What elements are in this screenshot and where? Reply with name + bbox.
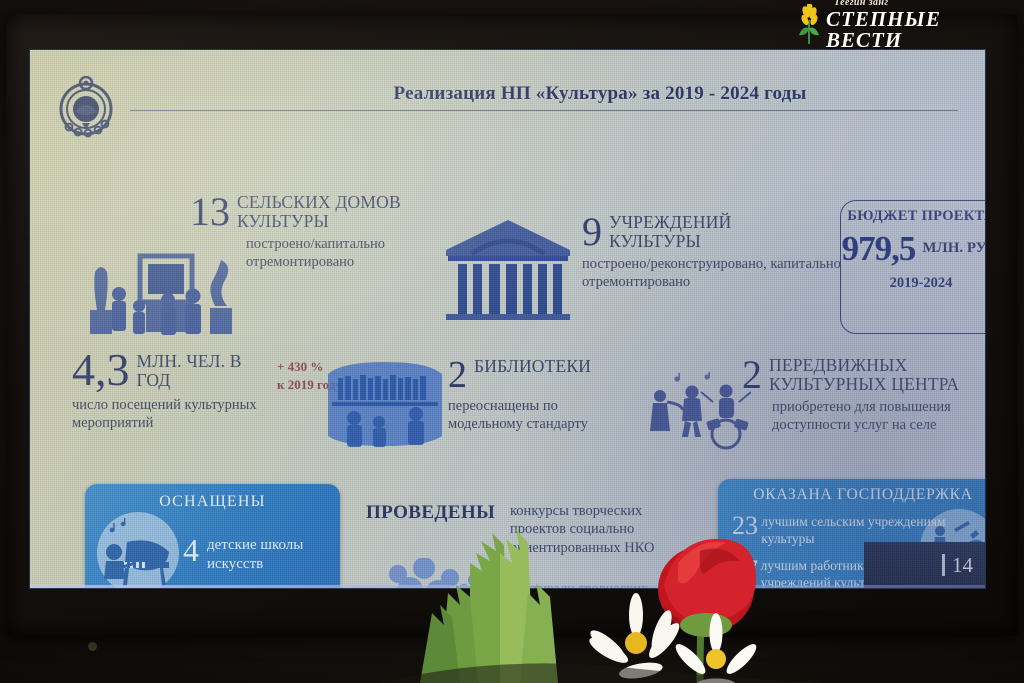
budget-unit: МЛН. РУБ.	[922, 241, 985, 257]
stat-description: построено/реконструировано, капитально о…	[582, 255, 844, 291]
stat-number: 2	[448, 357, 467, 393]
classical-culture-building-icon	[442, 216, 574, 324]
stat-description: переоснащены по модельному стандарту	[448, 397, 618, 433]
panel-equipped: ОСНАЩЕНЫ	[85, 484, 340, 588]
footer-tick	[942, 554, 945, 576]
coat-of-arms-of-kalmykia-icon	[55, 76, 117, 140]
stat-label: ПЕРЕДВИЖНЫХ КУЛЬТУРНЫХ ЦЕНТРА	[769, 356, 985, 394]
stat-label: МЛН. ЧЕЛ. В ГОД	[137, 352, 257, 390]
held-item-1: конкурсы творческих проектов социально о…	[510, 502, 700, 557]
tv-power-led	[88, 642, 97, 651]
panel-equipped-title: ОСНАЩЕНЫ	[85, 493, 340, 511]
support-number: 23	[732, 513, 761, 539]
stat-description: приобретено для повышения доступности ус…	[772, 398, 985, 434]
stat-number: 13	[190, 193, 230, 231]
bookshelf-library-icon	[322, 352, 448, 456]
watermark-text: Теегин занг СТЕПНЫЕ ВЕСТИ	[826, 0, 1014, 51]
stat-description: число посещений культурных мероприятий	[72, 396, 337, 432]
piano-child-icon	[97, 512, 179, 588]
photographed-room: Теегин занг СТЕПНЫЕ ВЕСТИ	[0, 0, 1024, 683]
budget-amount: 979,5	[842, 231, 916, 266]
equipped-text: детские школы искусств	[207, 536, 335, 574]
budget-box: БЮДЖЕТ ПРОЕКТА 979,5 МЛН. РУБ. 2019-2024	[840, 200, 985, 334]
page-number: 14	[952, 553, 973, 578]
watermark-title: СТЕПНЫЕ ВЕСТИ	[826, 9, 1014, 51]
crowd-silhouette-icon: ©	[376, 558, 494, 588]
slide-footer: 14	[864, 542, 985, 588]
stat-description: построено/капитально отремонтировано	[246, 235, 451, 271]
stat-number: 9	[582, 213, 602, 251]
tv-screen: Реализация НП «Культура» за 2019 - 2024 …	[30, 50, 985, 588]
header-divider	[130, 110, 958, 111]
wheat-ear-icon	[794, 4, 824, 44]
stat-label: СЕЛЬСКИХ ДОМОВ КУЛЬТУРЫ	[237, 193, 450, 231]
stat-institutions: 9 УЧРЕЖДЕНИЙ КУЛЬТУРЫ построено/реконстр…	[582, 213, 850, 291]
presentation-slide: Реализация НП «Культура» за 2019 - 2024 …	[30, 50, 985, 588]
stat-label: БИБЛИОТЕКИ	[474, 357, 591, 376]
equipped-number: 4	[183, 534, 199, 566]
stat-rural-houses: 13 СЕЛЬСКИХ ДОМОВ КУЛЬТУРЫ построено/кап…	[190, 193, 450, 271]
budget-title: БЮДЖЕТ ПРОЕКТА	[841, 208, 985, 225]
screen-bottom-glow	[30, 585, 985, 588]
publisher-watermark: Теегин занг СТЕПНЫЕ ВЕСТИ	[794, 2, 1018, 46]
page-title: Реализация НП «Культура» за 2019 - 2024 …	[280, 83, 920, 105]
stat-number: 4,3	[72, 348, 130, 392]
stat-libraries: 2 БИБЛИОТЕКИ переоснащены по модельному …	[448, 357, 648, 433]
stat-mobile-centers: 2 ПЕРЕДВИЖНЫХ КУЛЬТУРНЫХ ЦЕНТРА приобрет…	[742, 356, 985, 434]
music-band-icon	[647, 372, 751, 456]
stat-label: УЧРЕЖДЕНИЙ КУЛЬТУРЫ	[609, 213, 809, 251]
panel-support-title: ОКАЗАНА ГОСПОДДЕРЖКА	[718, 486, 985, 504]
stat-number: 2	[742, 356, 762, 394]
budget-years: 2019-2024	[841, 275, 985, 292]
held-title: ПРОВЕДЕНЫ	[366, 502, 495, 524]
support-number: 17	[732, 557, 761, 583]
